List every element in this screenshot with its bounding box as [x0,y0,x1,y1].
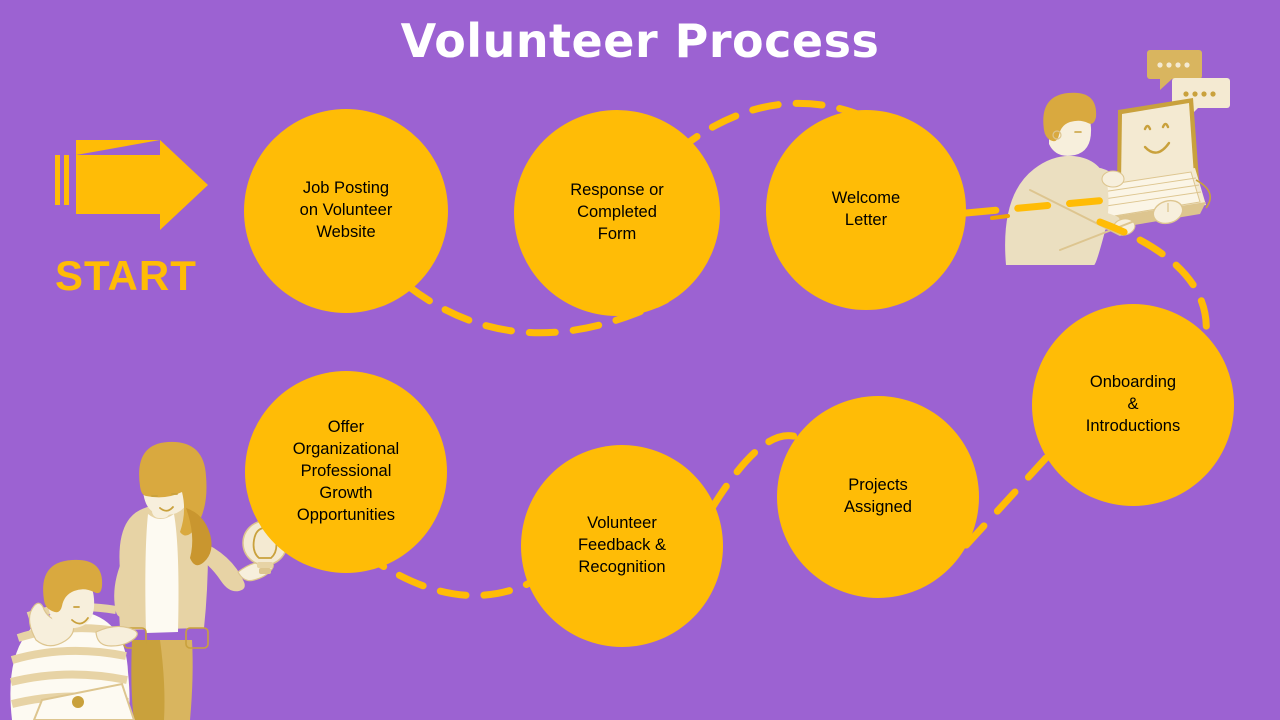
process-node-label: Offer Organizational Professional Growth… [283,417,409,527]
start-label: START [55,252,197,300]
process-node-volunteer-feedback[interactable]: Volunteer Feedback & Recognition [521,445,723,647]
process-node-onboarding[interactable]: Onboarding & Introductions [1032,304,1234,506]
floor-accent-lines [992,216,1008,218]
process-node-job-posting[interactable]: Job Posting on Volunteer Website [244,109,448,313]
process-node-label: Onboarding & Introductions [1076,372,1190,438]
person-body [1005,93,1136,265]
process-node-label: Volunteer Feedback & Recognition [568,513,676,579]
process-node-label: Job Posting on Volunteer Website [290,178,403,244]
process-node-response-form[interactable]: Response or Completed Form [514,110,720,316]
laptop-icon [1093,98,1206,231]
process-node-label: Welcome Letter [822,188,910,232]
process-node-welcome-letter[interactable]: Welcome Letter [766,110,966,310]
page-title: Volunteer Process [0,14,1280,68]
process-node-label: Projects Assigned [834,475,922,519]
process-node-label: Response or Completed Form [560,180,674,246]
process-node-growth-opportunities[interactable]: Offer Organizational Professional Growth… [245,371,447,573]
slide-canvas: Volunteer Process START Job Posting on V… [0,0,1280,720]
person-at-laptop-illustration [992,50,1230,265]
process-node-projects-assigned[interactable]: Projects Assigned [777,396,979,598]
